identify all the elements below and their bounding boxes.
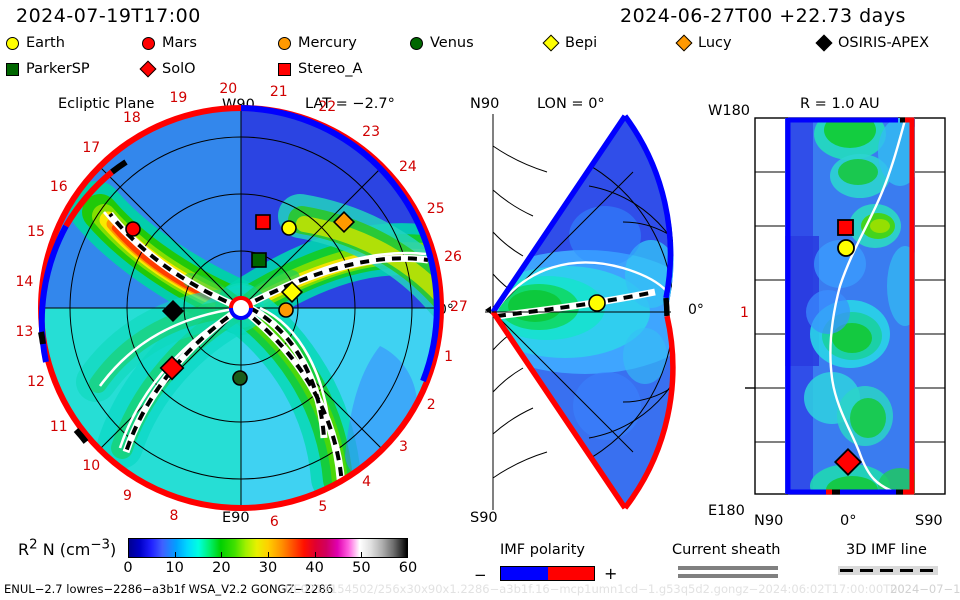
imf-line-dash bbox=[900, 569, 913, 572]
colorbar-tick-50: 50 bbox=[352, 560, 370, 576]
imf-line-dash bbox=[840, 569, 853, 572]
legend-item-earth: Earth bbox=[6, 36, 65, 51]
colorbar-tick-mark bbox=[268, 552, 269, 558]
parkersp-marker-icon bbox=[6, 63, 19, 76]
colorbar-tick-40: 40 bbox=[305, 560, 323, 576]
legend-item-venus: Venus bbox=[410, 36, 474, 51]
imf-polarity-negative-swatch bbox=[501, 567, 548, 580]
osiris-apex-marker-icon bbox=[816, 35, 833, 52]
imf-polarity-positive-swatch bbox=[548, 567, 595, 580]
legend-item-label: Mercury bbox=[298, 36, 357, 51]
colorbar-label: R2 N (cm−3) bbox=[18, 538, 116, 559]
colorbar-tick-30: 30 bbox=[259, 560, 277, 576]
legend-item-mercury: Mercury bbox=[278, 36, 357, 51]
ecliptic-plot bbox=[0, 86, 470, 526]
marker-mercury bbox=[279, 303, 293, 317]
body-legend: EarthMarsMercuryVenusBepiLucyOSIRIS-APEX… bbox=[0, 36, 960, 86]
colorbar-tick-labels: 0102030405060 bbox=[0, 558, 470, 582]
imf-line-title: 3D IMF line bbox=[846, 542, 927, 558]
colorbar-tick-20: 20 bbox=[212, 560, 230, 576]
legend-item-parkersp: ParkerSP bbox=[6, 62, 90, 77]
marker-mars bbox=[126, 222, 140, 236]
legend-item-label: Earth bbox=[26, 36, 65, 51]
imf-polarity-bar bbox=[500, 566, 595, 581]
footer-dim-text: UE0719154502/256x30x90x1.2286−a3b1f.16−m… bbox=[285, 582, 905, 596]
colorbar-label-text: R2 N (cm−3) bbox=[18, 540, 116, 559]
colorbar-tick-0: 0 bbox=[123, 560, 132, 576]
current-sheath-swatch-top bbox=[678, 566, 778, 570]
marker-stereo-a bbox=[256, 215, 270, 229]
marker-earth-radial bbox=[838, 240, 854, 256]
stereo-a-marker-icon bbox=[278, 63, 291, 76]
colorbar-tick-mark bbox=[361, 552, 362, 558]
current-sheath-swatch-bottom bbox=[678, 574, 778, 578]
legend-item-label: ParkerSP bbox=[26, 62, 90, 77]
colorbar-tick-60: 60 bbox=[399, 560, 417, 576]
footer-dim-text-2: 2024−07−19 bbox=[890, 582, 960, 596]
legend-item-lucy: Lucy bbox=[678, 36, 732, 51]
colorbar-tick-mark bbox=[221, 552, 222, 558]
legend-item-label: Lucy bbox=[698, 36, 732, 51]
footer-run-id: ENUL−2.7 lowres−2286−a3b1f WSA_V2.2 GONG… bbox=[4, 582, 333, 596]
legend-item-label: Venus bbox=[430, 36, 474, 51]
legend-item-label: Stereo_A bbox=[298, 62, 362, 77]
imf-polarity-plus: + bbox=[604, 564, 617, 583]
earth-marker-icon bbox=[6, 37, 19, 50]
bepi-marker-icon bbox=[543, 35, 560, 52]
legend-item-osiris-apex: OSIRIS-APEX bbox=[818, 36, 929, 51]
legend-item-bepi: Bepi bbox=[545, 36, 597, 51]
legend-item-label: OSIRIS-APEX bbox=[838, 36, 929, 51]
imf-line-swatch bbox=[838, 566, 938, 575]
marker-parkersp bbox=[252, 253, 266, 267]
right-timestamp: 2024-06-27T00 +22.73 days bbox=[620, 5, 906, 27]
marker-stereo-a-radial bbox=[838, 220, 853, 235]
legend-item-solo: SolO bbox=[142, 62, 196, 77]
colorbar-tick-10: 10 bbox=[165, 560, 183, 576]
marker-venus bbox=[233, 371, 247, 385]
legend-item-label: SolO bbox=[162, 62, 196, 77]
current-sheath-title: Current sheath bbox=[672, 542, 781, 558]
lucy-marker-icon bbox=[676, 35, 693, 52]
imf-line-dash bbox=[880, 569, 893, 572]
radial-plot bbox=[700, 86, 960, 526]
meridional-plot bbox=[455, 86, 705, 526]
enlil-visualization-root: 2024-07-19T17:00 2024-06-27T00 +22.73 da… bbox=[0, 0, 960, 600]
colorbar-tick-mark bbox=[315, 552, 316, 558]
legend-item-mars: Mars bbox=[142, 36, 197, 51]
solo-marker-icon bbox=[140, 61, 157, 78]
marker-earth-meridional bbox=[589, 295, 605, 311]
imf-polarity-title: IMF polarity bbox=[500, 542, 585, 558]
legend-item-label: Mars bbox=[162, 36, 197, 51]
imf-line-dash bbox=[860, 569, 873, 572]
legend-item-label: Bepi bbox=[565, 36, 597, 51]
mercury-marker-icon bbox=[278, 37, 291, 50]
legend-item-stereo-a: Stereo_A bbox=[278, 62, 362, 77]
mars-marker-icon bbox=[142, 37, 155, 50]
left-timestamp: 2024-07-19T17:00 bbox=[16, 5, 201, 27]
marker-earth bbox=[282, 221, 296, 235]
imf-line-dash bbox=[920, 569, 933, 572]
venus-marker-icon bbox=[410, 37, 423, 50]
colorbar-tick-mark bbox=[175, 552, 176, 558]
